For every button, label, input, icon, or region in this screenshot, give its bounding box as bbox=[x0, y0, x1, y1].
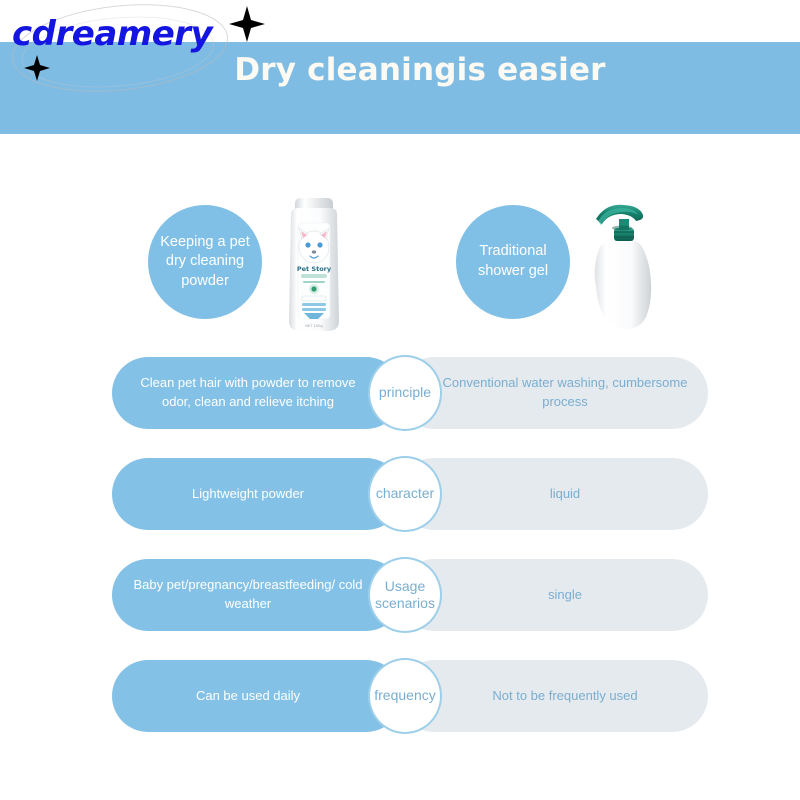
product-label-shower-gel: Traditional shower gel bbox=[456, 205, 570, 319]
row-left-value: Can be used daily bbox=[112, 660, 402, 732]
row-attribute: principle bbox=[368, 355, 442, 431]
comparison-row: Baby pet/pregnancy/breastfeeding/ cold w… bbox=[0, 559, 800, 631]
powder-bottle-image: Pet Story NET 100g bbox=[268, 195, 360, 335]
product-label-powder: Keeping a pet dry cleaning powder bbox=[148, 205, 262, 319]
row-right-value: liquid bbox=[398, 458, 708, 530]
row-attribute: character bbox=[368, 456, 442, 532]
row-attribute: Usage scenarios bbox=[368, 557, 442, 633]
product-comparison-header: Keeping a pet dry cleaning powder bbox=[0, 195, 800, 335]
row-attribute: frequency bbox=[368, 658, 442, 734]
row-right-value: single bbox=[398, 559, 708, 631]
svg-text:Pet Story: Pet Story bbox=[297, 265, 332, 273]
row-left-value: Lightweight powder bbox=[112, 458, 402, 530]
comparison-row: Lightweight powder liquid character bbox=[0, 458, 800, 530]
brand-logo: cdreamery bbox=[12, 14, 212, 54]
row-right-value: Conventional water washing, cumbersome p… bbox=[398, 357, 708, 429]
sparkle-star-small bbox=[24, 55, 50, 81]
product-group-powder: Keeping a pet dry cleaning powder bbox=[140, 195, 360, 335]
shower-gel-bottle-image bbox=[576, 195, 668, 335]
row-right-value: Not to be frequently used bbox=[398, 660, 708, 732]
row-left-value: Clean pet hair with powder to remove odo… bbox=[112, 357, 402, 429]
row-left-value: Baby pet/pregnancy/breastfeeding/ cold w… bbox=[112, 559, 402, 631]
sparkle-star-large bbox=[229, 6, 265, 42]
product-group-shower-gel: Traditional shower gel bbox=[448, 195, 668, 335]
comparison-row: Clean pet hair with powder to remove odo… bbox=[0, 357, 800, 429]
page-header: cdreamery Dry cleaningis easier bbox=[0, 0, 800, 145]
comparison-row: Can be used daily Not to be frequently u… bbox=[0, 660, 800, 732]
comparison-table: Clean pet hair with powder to remove odo… bbox=[0, 357, 800, 761]
svg-text:NET 100g: NET 100g bbox=[305, 324, 322, 328]
